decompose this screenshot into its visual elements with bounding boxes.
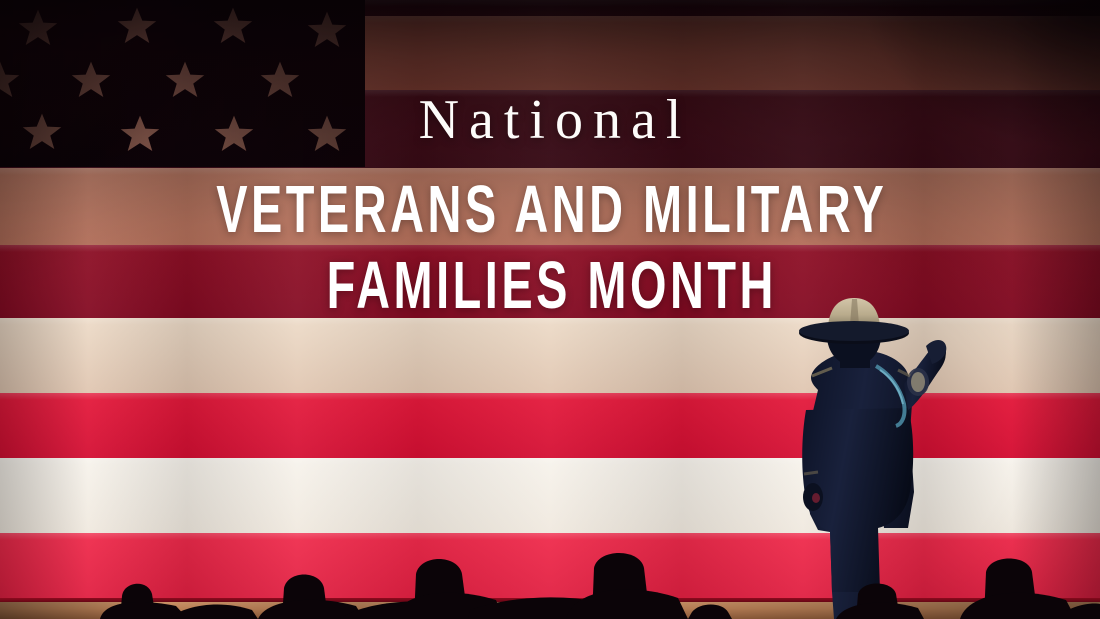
flag-stripe — [0, 168, 1100, 245]
flag-star-icon — [115, 4, 159, 48]
flag-star-icon — [163, 58, 207, 102]
flag-star-icon — [20, 110, 64, 154]
flag-star-icon — [212, 112, 256, 156]
flag-star-icon — [16, 6, 60, 50]
flag-star-icon — [0, 58, 22, 102]
flag-star-icon — [118, 112, 162, 156]
flag-star-icon — [258, 58, 302, 102]
flag-star-icon — [69, 58, 113, 102]
audience-silhouettes — [0, 548, 1100, 619]
flag-star-icon — [305, 112, 349, 156]
poster-canvas: National VETERANS AND MILITARY FAMILIES … — [0, 0, 1100, 619]
flag-star-icon — [211, 4, 255, 48]
flag-star-icon — [305, 8, 349, 52]
flag-canton-star-field — [0, 0, 365, 167]
